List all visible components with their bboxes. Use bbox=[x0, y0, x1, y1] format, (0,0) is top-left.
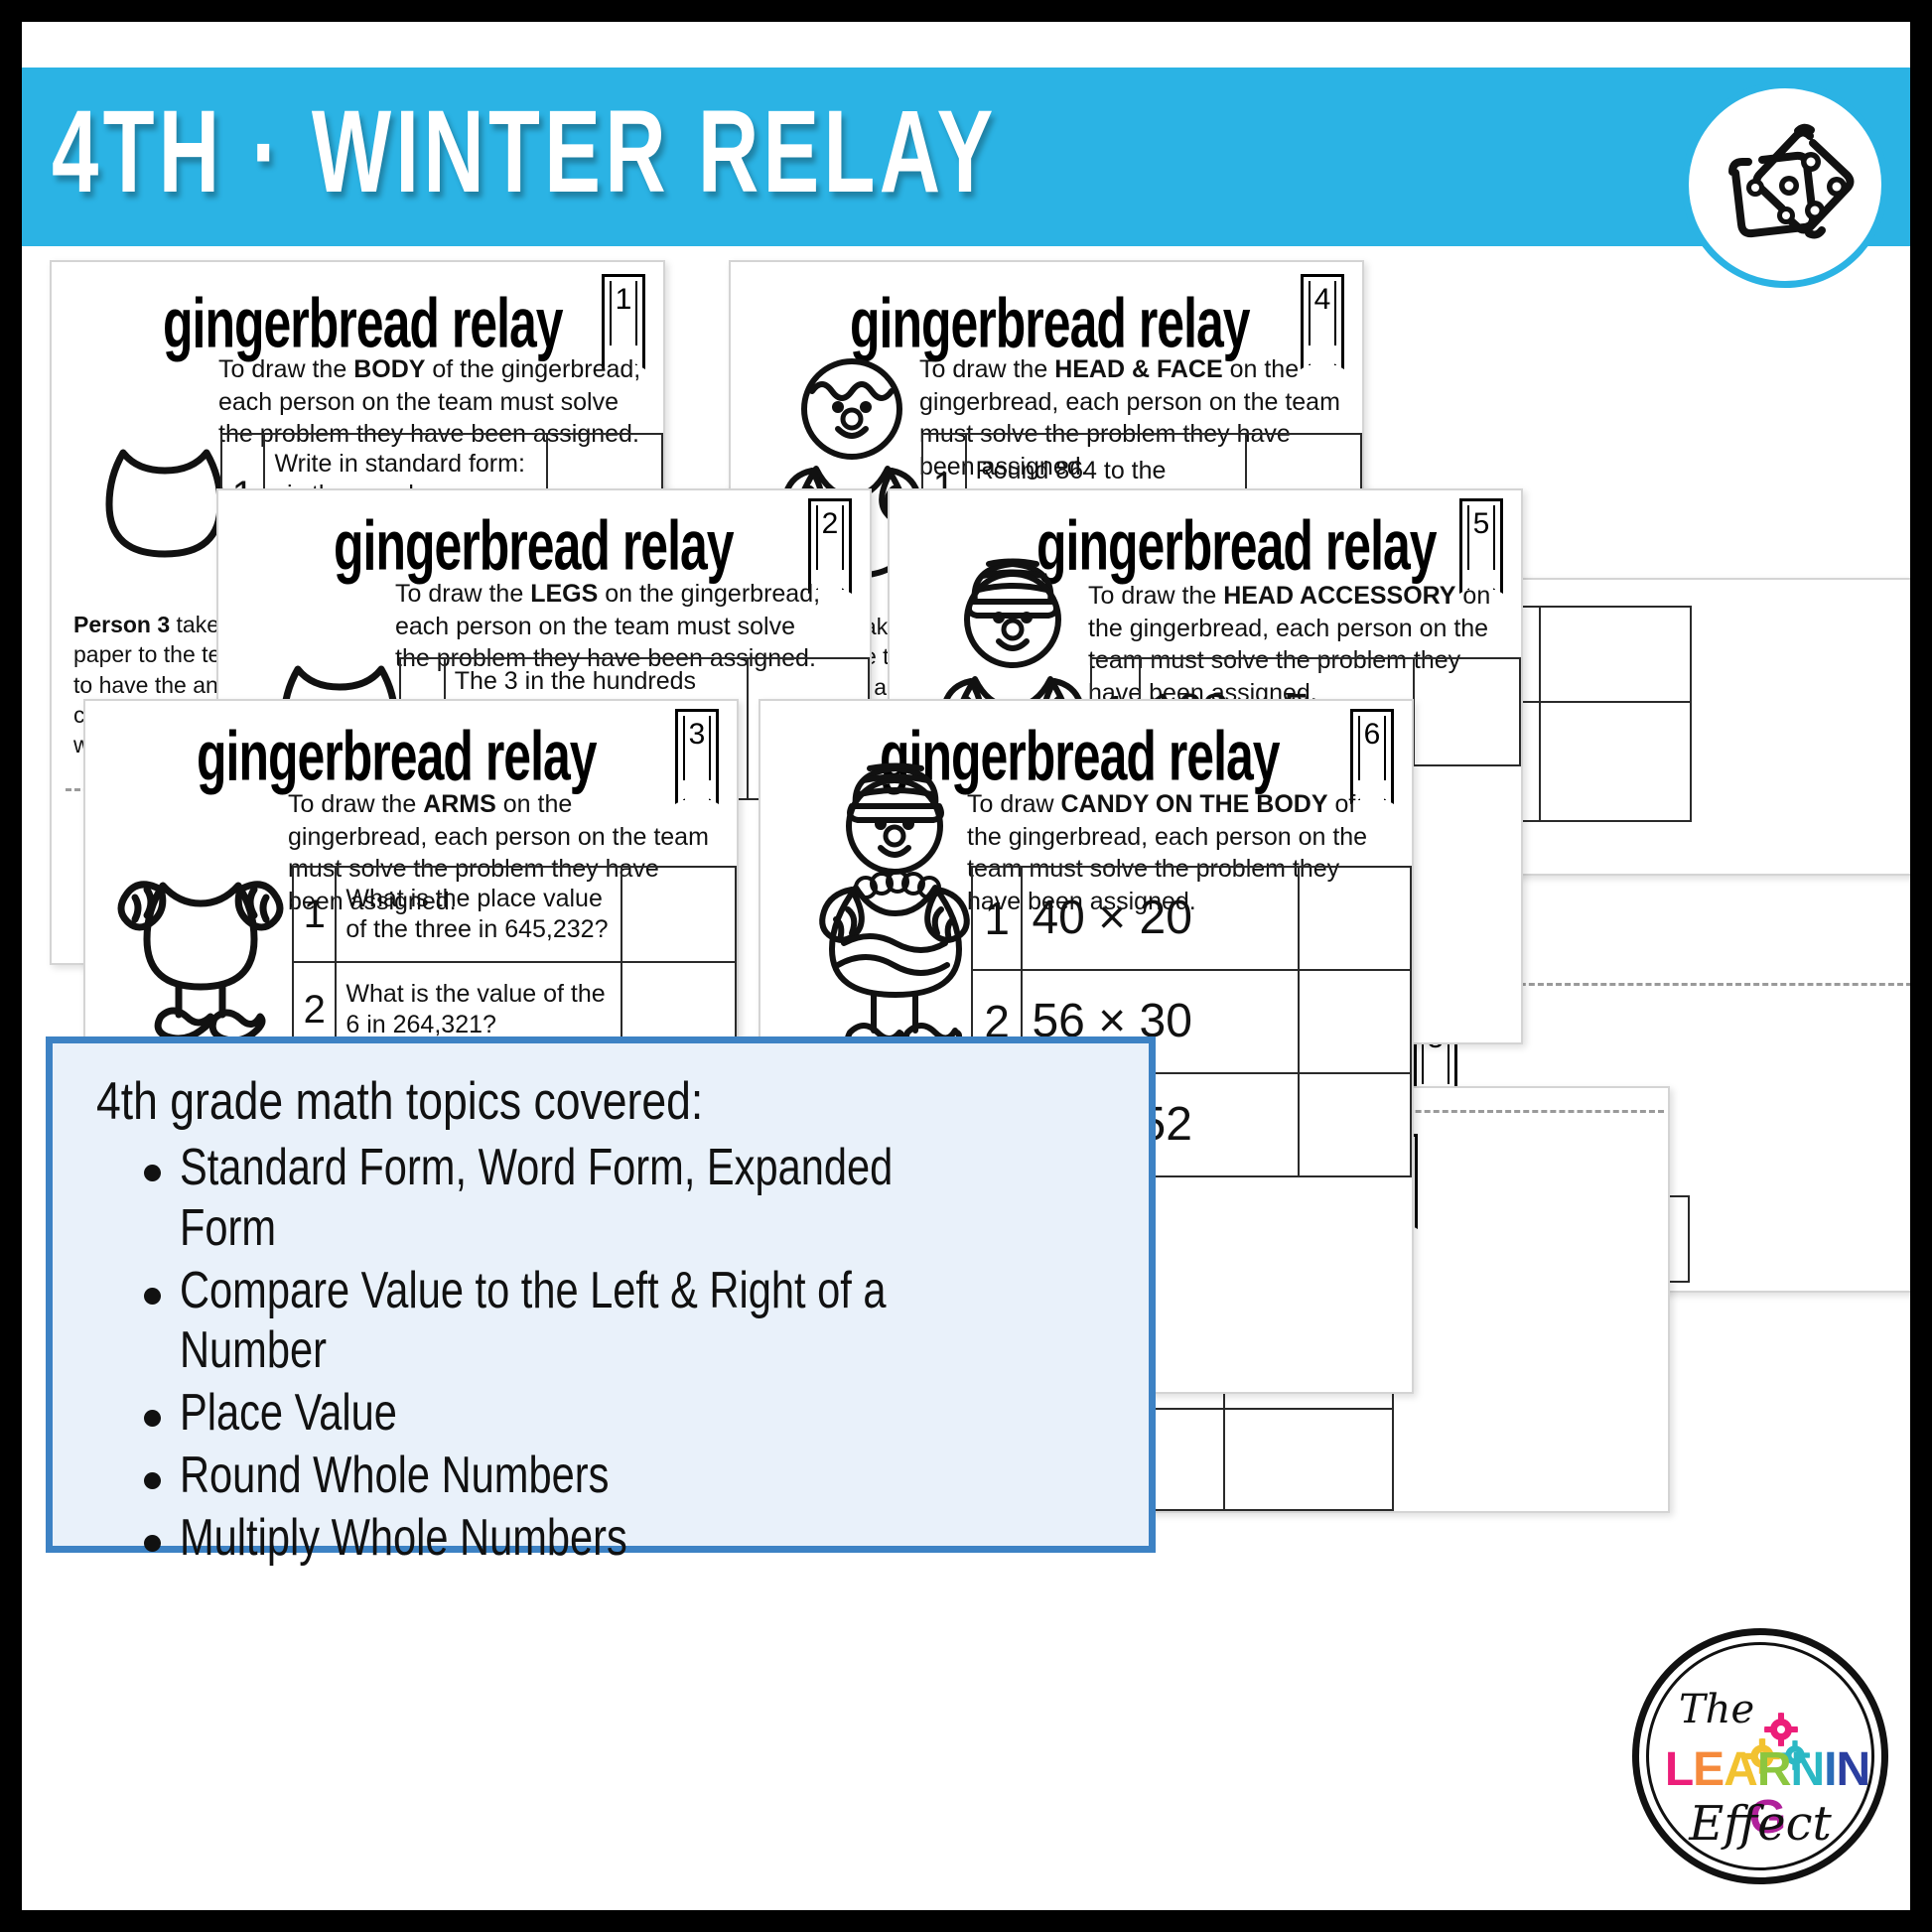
ribbon-badge: 3 bbox=[675, 709, 719, 780]
ribbon-number: 6 bbox=[1353, 718, 1391, 752]
answer-cell[interactable] bbox=[1540, 607, 1691, 702]
card-title: gingerbread relay bbox=[334, 506, 734, 587]
topics-list: Standard Form, Word Form, Expanded Form … bbox=[82, 1138, 1125, 1569]
page-canvas: 4TH · WINTER RELAY bbox=[22, 22, 1910, 1910]
question-text: 40 × 20 bbox=[1022, 867, 1298, 970]
gingerbread-candy-clipart bbox=[800, 749, 989, 1066]
dice-icon bbox=[1682, 81, 1888, 288]
answer-cell[interactable] bbox=[621, 867, 736, 962]
card-title: gingerbread relay bbox=[197, 717, 597, 797]
header-banner: 4TH · WINTER RELAY bbox=[22, 68, 1910, 246]
instructions-prefix: To draw the bbox=[218, 355, 353, 383]
table-row: 1 What is the place value of the three i… bbox=[293, 867, 736, 962]
list-item: Place Value bbox=[138, 1383, 1125, 1444]
list-item: Compare Value to the Left & Right of a N… bbox=[138, 1261, 1125, 1382]
list-item: Standard Form, Word Form, Expanded Form bbox=[138, 1138, 1125, 1259]
ribbon-number: 3 bbox=[678, 718, 716, 752]
table-row: 2 bbox=[1114, 1510, 1393, 1513]
topic-label: Round Whole Numbers bbox=[180, 1446, 609, 1506]
answer-cell[interactable] bbox=[1540, 702, 1691, 821]
logo-word-effect: Effect bbox=[1639, 1796, 1881, 1852]
instructions-keyword: HEAD ACCESSORY bbox=[1223, 582, 1455, 610]
callout-heading: 4th grade math topics covered: bbox=[96, 1071, 960, 1132]
brand-logo: The LEARNING Effect bbox=[1632, 1628, 1888, 1884]
instructions-prefix: To draw the bbox=[395, 580, 530, 608]
instructions-prefix: To draw the bbox=[288, 790, 423, 818]
answer-cell[interactable] bbox=[1414, 658, 1520, 765]
ribbon-badge: 5 bbox=[1459, 498, 1503, 570]
gingerbread-arms-clipart bbox=[111, 858, 290, 1056]
gingerbread-body-clipart bbox=[95, 431, 234, 565]
answer-cell[interactable] bbox=[1299, 970, 1411, 1073]
card-title: gingerbread relay bbox=[1036, 506, 1437, 587]
logo-word-the: The bbox=[1679, 1687, 1754, 1732]
logo-letter: N bbox=[1837, 1746, 1870, 1794]
table-row: 0 bbox=[1114, 1409, 1393, 1510]
logo-letter: E bbox=[1693, 1746, 1724, 1794]
logo-letter: L bbox=[1665, 1746, 1693, 1794]
answer-cell[interactable] bbox=[1299, 1073, 1411, 1176]
answer-cell[interactable] bbox=[1224, 1409, 1393, 1510]
logo-letter: I bbox=[1824, 1746, 1836, 1794]
topic-label: Standard Form, Word Form, Expanded Form bbox=[180, 1138, 936, 1259]
instructions-keyword: HEAD & FACE bbox=[1054, 355, 1222, 383]
topic-label: Compare Value to the Left & Right of a N… bbox=[180, 1261, 936, 1382]
ribbon-badge: 6 bbox=[1350, 709, 1394, 780]
page-title: 4TH · WINTER RELAY bbox=[52, 83, 998, 221]
answer-cell[interactable] bbox=[1224, 1510, 1393, 1513]
instructions-keyword: ARMS bbox=[423, 790, 496, 818]
instructions-keyword: CANDY ON THE BODY bbox=[1060, 790, 1327, 818]
table-row: 1 40 × 20 bbox=[972, 867, 1411, 970]
ribbon-number: 4 bbox=[1304, 283, 1341, 317]
answer-cell[interactable] bbox=[1299, 867, 1411, 970]
ribbon-badge: 4 bbox=[1301, 274, 1344, 345]
topic-label: Place Value bbox=[180, 1383, 397, 1444]
ribbon-badge: 1 bbox=[602, 274, 645, 345]
instructions-prefix: To draw the bbox=[919, 355, 1054, 383]
question-number: 1 bbox=[972, 867, 1022, 970]
logo-letter: N bbox=[1791, 1746, 1825, 1794]
question-number: 1 bbox=[293, 867, 336, 962]
person-label-1: Person 3 bbox=[73, 612, 170, 637]
topics-callout: 4th grade math topics covered: Standard … bbox=[46, 1036, 1156, 1553]
instructions-keyword: BODY bbox=[353, 355, 425, 383]
ribbon-number: 1 bbox=[605, 283, 642, 317]
instructions-prefix: To draw the bbox=[1088, 582, 1223, 610]
logo-letter: R bbox=[1757, 1746, 1791, 1794]
question-text: What is the place value of the three in … bbox=[336, 867, 621, 962]
ribbon-badge: 2 bbox=[808, 498, 852, 570]
topic-label: Multiply Whole Numbers bbox=[180, 1508, 627, 1569]
ribbon-number: 5 bbox=[1462, 507, 1500, 541]
list-item: Round Whole Numbers bbox=[138, 1446, 1125, 1506]
card-title: gingerbread relay bbox=[163, 284, 563, 364]
logo-letter: A bbox=[1724, 1746, 1757, 1794]
product-cover: 4TH · WINTER RELAY bbox=[0, 0, 1932, 1932]
list-item: Multiply Whole Numbers bbox=[138, 1508, 1125, 1569]
instructions-keyword: LEGS bbox=[530, 580, 598, 608]
ribbon-number: 2 bbox=[811, 507, 849, 541]
